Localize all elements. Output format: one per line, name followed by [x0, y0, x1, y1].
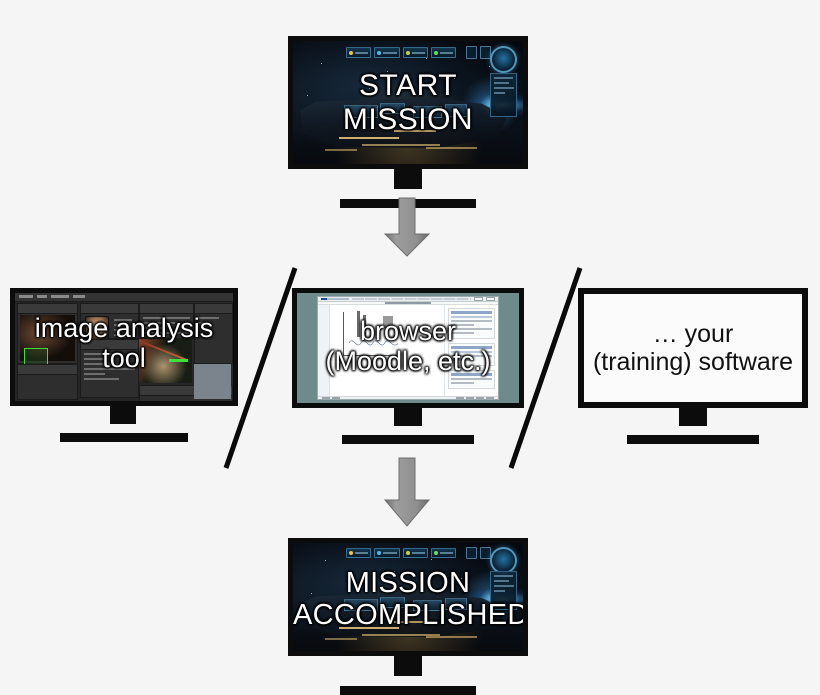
start-screen[interactable]: START MISSION	[293, 41, 523, 164]
hud-chip[interactable]	[374, 47, 399, 58]
status-button[interactable]	[322, 397, 330, 399]
hud-resource-bar[interactable]	[346, 47, 456, 58]
hud-icon[interactable]	[480, 547, 491, 559]
tool-panel-text[interactable]	[139, 303, 193, 340]
sample-image-viewport[interactable]	[139, 339, 191, 382]
status-button[interactable]	[456, 397, 464, 399]
status-button[interactable]	[332, 397, 340, 399]
browser-screen[interactable]: browser (Moodle, etc.)	[297, 293, 519, 403]
window-minimize-button[interactable]	[474, 297, 483, 301]
side-card[interactable]	[448, 370, 495, 389]
shield-badge-icon[interactable]	[490, 46, 517, 73]
hud-chip[interactable]	[431, 47, 456, 58]
node-your-software-monitor[interactable]: … your (training) software	[578, 288, 808, 433]
status-button[interactable]	[486, 397, 494, 399]
page-main-column[interactable]	[330, 305, 444, 396]
node-end-monitor[interactable]: MISSION ACCOMPLISHED!	[288, 538, 528, 678]
node-start-monitor[interactable]: START MISSION	[288, 36, 528, 176]
hud-chip[interactable]	[374, 548, 399, 558]
browser-statusbar[interactable]	[318, 396, 498, 399]
monitor-stand-base	[627, 435, 759, 444]
side-card[interactable]	[448, 343, 495, 366]
monitor-stand-base	[60, 433, 188, 442]
browser-chrome[interactable]	[318, 297, 498, 301]
browser-window[interactable]	[317, 296, 499, 399]
image-analysis-artwork	[15, 293, 233, 401]
your-software-screen[interactable]: … your (training) software	[584, 294, 802, 402]
hull-lights	[293, 543, 523, 651]
tool-empty-area	[194, 364, 231, 399]
page-body[interactable]	[318, 305, 498, 396]
diagram-canvas: START MISSION	[0, 0, 820, 692]
arrow-tools-to-end	[381, 456, 433, 528]
site-logo-icon	[321, 298, 349, 300]
tool-panel-viewer[interactable]	[17, 303, 78, 364]
node-browser-monitor[interactable]: browser (Moodle, etc.)	[292, 288, 524, 433]
monitor-stand-base	[340, 686, 476, 695]
waveform-curve	[349, 335, 399, 351]
monitor-bezel: … your (training) software	[578, 288, 808, 408]
game-artwork	[293, 41, 523, 164]
browser-artwork	[297, 293, 519, 403]
page-side-column[interactable]	[444, 305, 498, 396]
tool-panel-right[interactable]	[194, 303, 233, 364]
hud-resource-bar[interactable]	[346, 548, 456, 558]
hud-icon[interactable]	[480, 46, 491, 59]
monitor-stand-neck	[394, 656, 422, 676]
hud-chip[interactable]	[346, 47, 371, 58]
tool-panel-meta[interactable]	[80, 303, 139, 340]
monitor-bezel: image analysis tool	[10, 288, 238, 406]
game-artwork	[293, 543, 523, 651]
figure-plot	[339, 310, 410, 366]
status-button[interactable]	[476, 397, 484, 399]
arrow-start-to-tools	[381, 196, 433, 258]
monitor-stand-neck	[394, 169, 422, 189]
tool-menubar[interactable]	[15, 293, 233, 302]
separator-slash-right	[503, 262, 587, 474]
hud-chip[interactable]	[346, 548, 371, 558]
monitor-bezel: START MISSION	[288, 36, 528, 169]
end-screen[interactable]: MISSION ACCOMPLISHED!	[293, 543, 523, 651]
side-card[interactable]	[448, 308, 495, 339]
hud-chip[interactable]	[403, 548, 428, 558]
hud-chip[interactable]	[403, 47, 428, 58]
monitor-bezel: MISSION ACCOMPLISHED!	[288, 538, 528, 656]
monitor-stand-neck	[110, 406, 136, 424]
hud-icon[interactable]	[466, 46, 477, 59]
tool-panel-histogram[interactable]	[17, 364, 78, 399]
hud-chip[interactable]	[431, 548, 456, 558]
your-software-caption: … your (training) software	[584, 320, 802, 376]
hull-lights	[293, 41, 523, 164]
monitor-stand-base	[342, 435, 474, 444]
monitor-bezel: browser (Moodle, etc.)	[292, 288, 524, 408]
hud-icon-group[interactable]	[466, 47, 491, 58]
browser-tabstrip[interactable]	[352, 298, 471, 299]
tool-panel-properties[interactable]	[80, 339, 139, 397]
mission-side-panel[interactable]	[490, 73, 517, 117]
hud-icon-group[interactable]	[466, 548, 491, 558]
window-close-button[interactable]	[486, 297, 495, 301]
monitor-stand-neck	[394, 408, 422, 426]
status-button[interactable]	[466, 397, 474, 399]
node-image-analysis-monitor[interactable]: image analysis tool	[10, 288, 238, 433]
image-analysis-screen[interactable]: image analysis tool	[15, 293, 233, 401]
monitor-stand-neck	[679, 408, 707, 426]
hud-icon[interactable]	[466, 547, 477, 559]
page-left-rail[interactable]	[318, 305, 330, 396]
mission-side-panel[interactable]	[490, 571, 517, 610]
